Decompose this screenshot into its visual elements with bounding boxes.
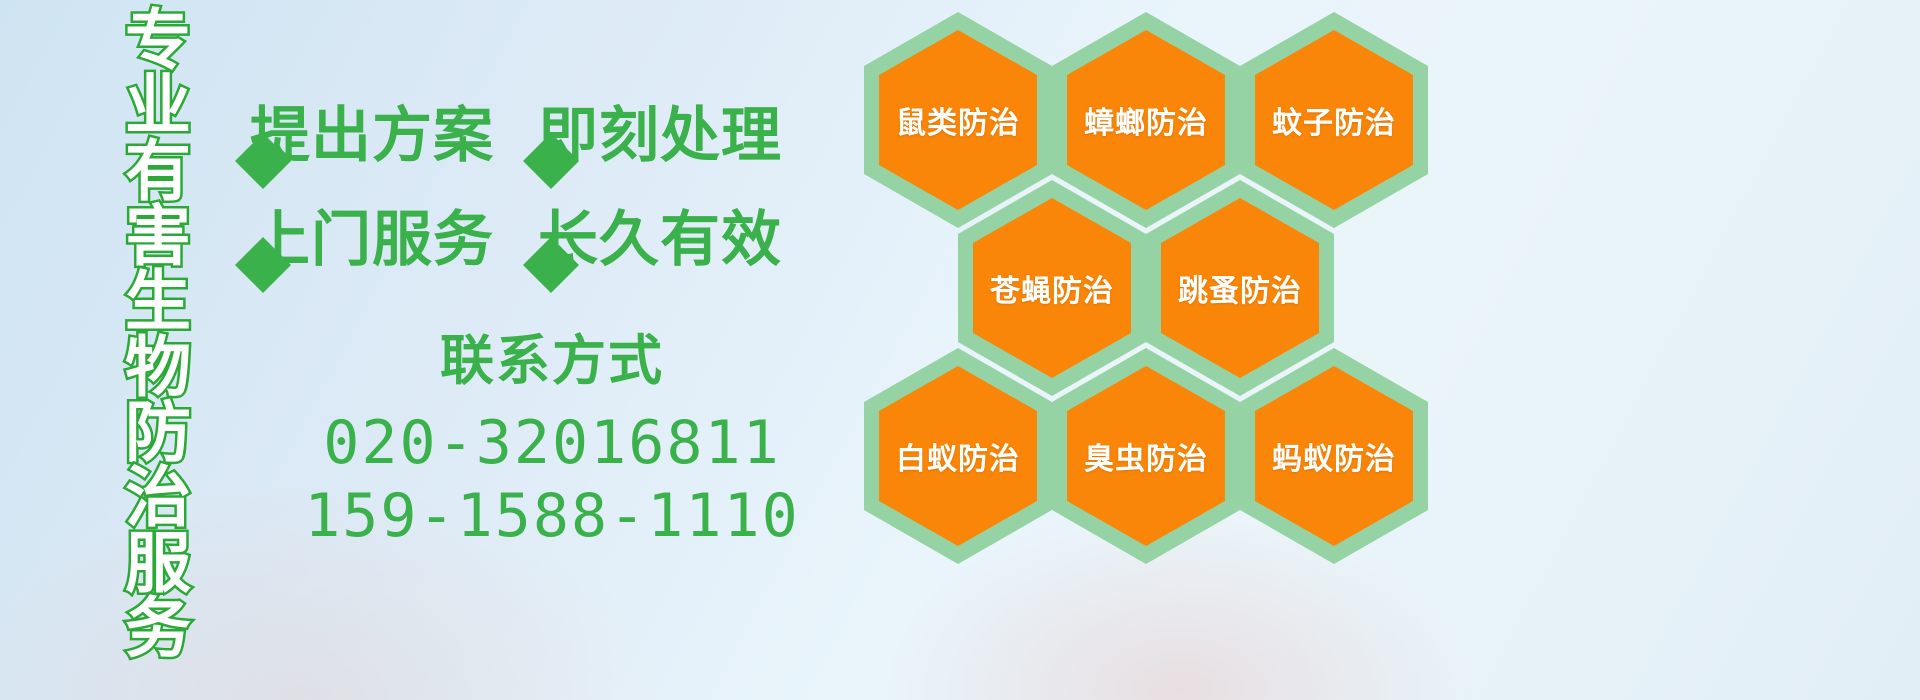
vertical-title-char: 服 [125, 531, 191, 596]
hex-cell-ant-control[interactable]: 蚂蚁防治 [1236, 344, 1432, 568]
vertical-title-char: 务 [125, 596, 191, 661]
feature-label: 提出方案 [250, 87, 494, 174]
hex-cell-bedbug-control[interactable]: 臭虫防治 [1048, 344, 1244, 568]
contact-block: 联系方式 020-32016811 159-1588-1110 [232, 316, 872, 553]
feature-label: 长久有效 [538, 191, 782, 278]
pest-control-service-banner: 专 业 有 害 生 物 防 治 服 务 提出方案 即刻处理 [0, 0, 1920, 700]
feature-label: 上门服务 [250, 191, 494, 278]
feature-item-propose-plan[interactable]: 提出方案 [232, 87, 494, 174]
feature-list: 提出方案 即刻处理 上门服务 长久有效 [232, 78, 872, 286]
feature-row: 提出方案 即刻处理 [232, 78, 872, 182]
feature-row: 上门服务 长久有效 [232, 182, 872, 286]
vertical-title-char: 有 [125, 139, 191, 204]
phone-number-mobile[interactable]: 159-1588-1110 [232, 480, 872, 553]
vertical-title-char: 专 [125, 8, 191, 73]
phone-number-landline[interactable]: 020-32016811 [232, 407, 872, 480]
vertical-title: 专 业 有 害 生 物 防 治 服 务 [110, 8, 206, 678]
vertical-title-char: 业 [125, 73, 191, 138]
vertical-title-char: 生 [125, 269, 191, 334]
feature-item-on-site-service[interactable]: 上门服务 [232, 191, 494, 278]
vertical-title-char: 治 [125, 465, 191, 530]
service-honeycomb: 鼠类防治 蟑螂防治 蚊子防治 苍蝇防治 [852, 0, 1472, 700]
vertical-title-char: 物 [125, 335, 191, 400]
contact-heading: 联系方式 [232, 316, 872, 395]
feature-label: 即刻处理 [538, 87, 782, 174]
vertical-title-char: 害 [125, 204, 191, 269]
feature-item-immediate-treatment[interactable]: 即刻处理 [520, 87, 782, 174]
vertical-title-char: 防 [125, 400, 191, 465]
hex-cell-termite-control[interactable]: 白蚁防治 [860, 344, 1056, 568]
feature-item-long-lasting[interactable]: 长久有效 [520, 191, 782, 278]
